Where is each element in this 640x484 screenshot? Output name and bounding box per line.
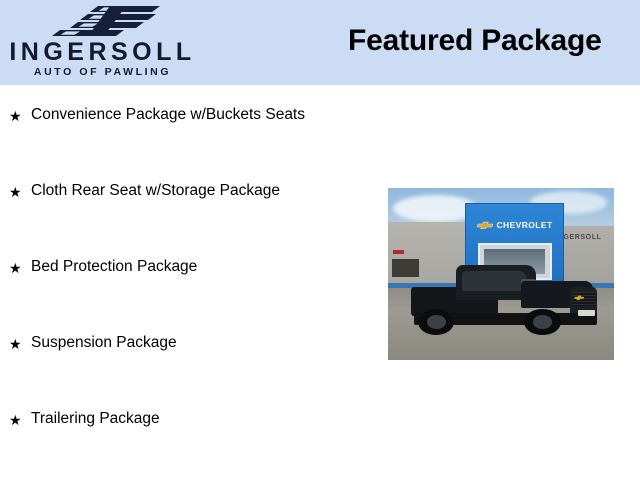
list-item-label: Convenience Package w/Buckets Seats	[31, 104, 331, 125]
brand-logo-block: INGERSOLL AUTO OF PAWLING	[0, 0, 210, 85]
chevrolet-bowtie-icon	[574, 295, 585, 300]
list-item: ★ Trailering Package	[0, 408, 360, 484]
star-bullet-icon: ★	[9, 410, 22, 430]
feature-package-list: ★ Convenience Package w/Buckets Seats ★ …	[0, 104, 360, 484]
list-item-label: Cloth Rear Seat w/Storage Package	[31, 180, 331, 201]
truck-front-wheel	[524, 309, 560, 335]
list-item: ★ Convenience Package w/Buckets Seats	[0, 104, 360, 180]
list-item-label: Trailering Package	[31, 408, 331, 429]
truck-license-plate	[578, 310, 595, 316]
truck-window	[462, 271, 527, 292]
brand-name: INGERSOLL	[0, 40, 205, 65]
header-band: INGERSOLL AUTO OF PAWLING Featured Packa…	[0, 0, 640, 85]
brand-tagline: AUTO OF PAWLING	[0, 67, 205, 78]
list-item: ★ Bed Protection Package	[0, 256, 360, 332]
list-item: ★ Suspension Package	[0, 332, 360, 408]
chevrolet-bowtie-icon	[477, 221, 494, 229]
photo-chevrolet-sign: CHEVROLET	[470, 215, 560, 237]
ingersoll-wing-emblem-icon	[52, 4, 176, 38]
star-bullet-icon: ★	[9, 258, 22, 278]
list-item: ★ Cloth Rear Seat w/Storage Package	[0, 180, 360, 256]
star-bullet-icon: ★	[9, 106, 22, 126]
list-item-label: Bed Protection Package	[31, 256, 331, 277]
truck-rear-wheel	[418, 309, 454, 335]
vehicle-photo: INGERSOLL CHEVROLET	[388, 188, 614, 360]
star-bullet-icon: ★	[9, 182, 22, 202]
truck-silhouette	[411, 264, 601, 343]
page-title: Featured Package	[348, 23, 602, 59]
photo-dealer-sign-text: CHEVROLET	[497, 220, 553, 230]
star-bullet-icon: ★	[9, 334, 22, 354]
list-item-label: Suspension Package	[31, 332, 331, 353]
photo-red-sign	[393, 250, 405, 254]
